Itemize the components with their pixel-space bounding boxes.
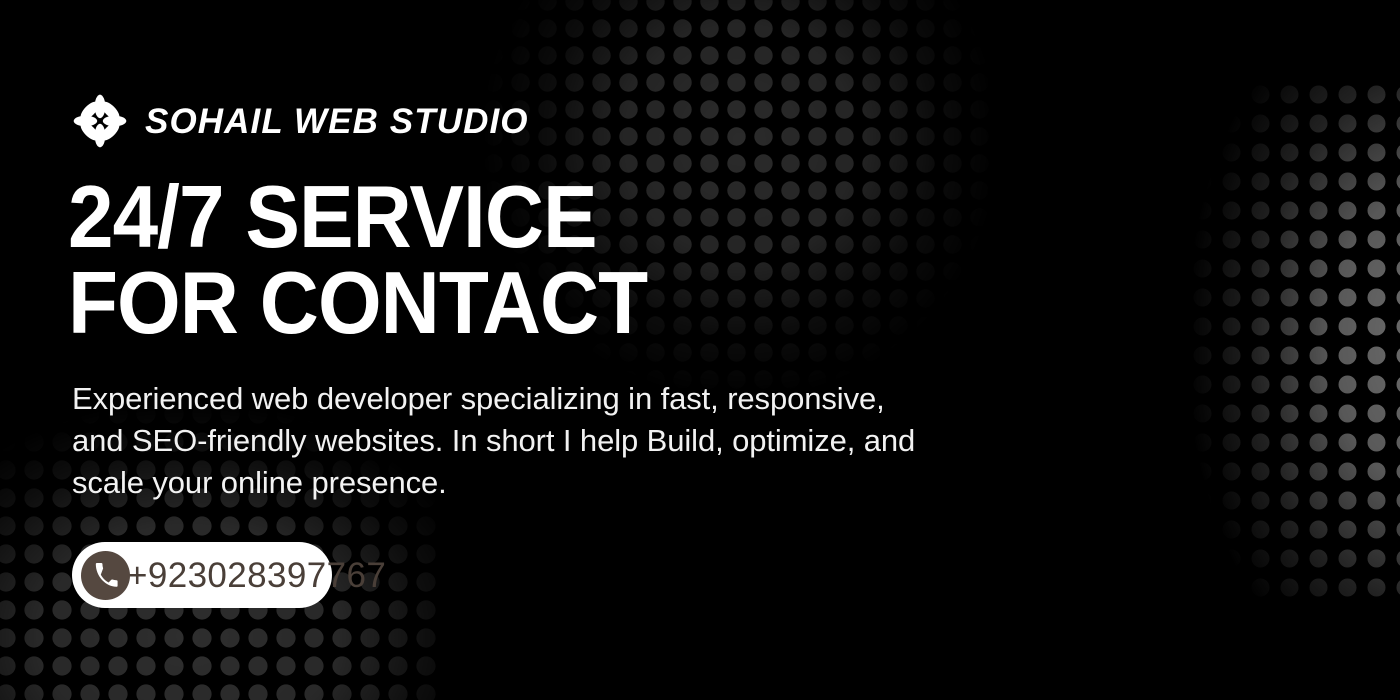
subcopy-line-2: and SEO-friendly websites. In short I he…: [72, 420, 992, 462]
phone-handset-icon: [81, 551, 130, 600]
subcopy-line-3: scale your online presence.: [72, 462, 992, 504]
phone-contact-button[interactable]: +923028397767: [72, 542, 332, 608]
halftone-right-edge-decoration: [1130, 80, 1400, 600]
subcopy-line-1: Experienced web developer specializing i…: [72, 378, 992, 420]
subcopy-paragraph: Experienced web developer specializing i…: [72, 378, 992, 504]
banner-content: SOHAIL WEB STUDIO 24/7 SERVICE FOR CONTA…: [72, 0, 1072, 700]
promo-banner: SOHAIL WEB STUDIO 24/7 SERVICE FOR CONTA…: [0, 0, 1400, 700]
brand-lockup: SOHAIL WEB STUDIO: [72, 88, 529, 154]
eight-petal-flower-icon: [72, 93, 128, 149]
phone-number-label: +923028397767: [127, 558, 386, 593]
page-title: 24/7 SERVICE FOR CONTACT: [68, 174, 775, 346]
brand-name: SOHAIL WEB STUDIO: [145, 104, 529, 139]
